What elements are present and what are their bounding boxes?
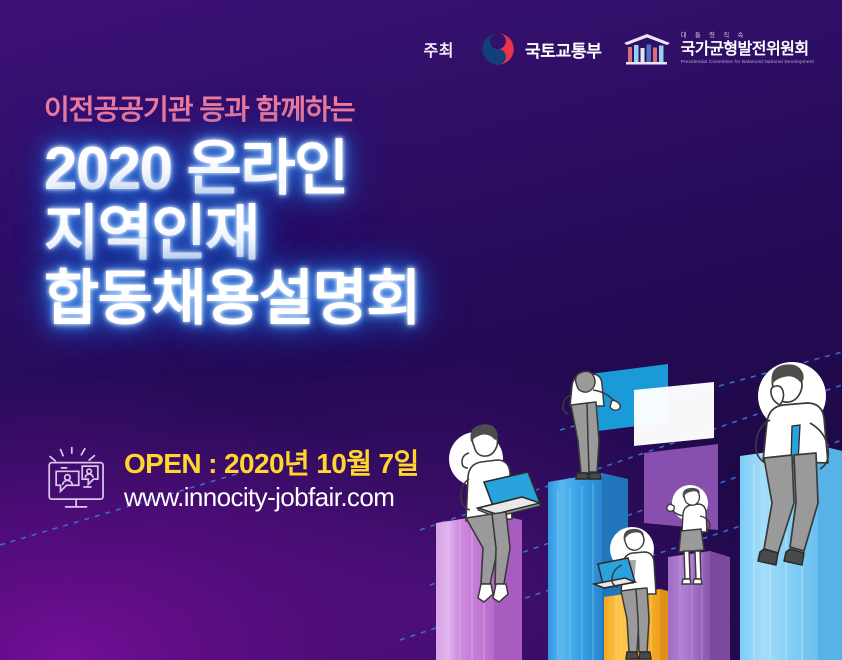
- government-building-icon: [621, 32, 673, 66]
- organization-subtitle-pcbnd: Presidential Committee for Balanced Nati…: [681, 60, 814, 65]
- poster-canvas: 주최 국토교통부 대 통 령 직 속 국가균형발전위원회: [0, 0, 842, 660]
- organization-superscript-pcbnd: 대 통 령 직 속: [681, 33, 814, 40]
- website-url[interactable]: www.innocity-jobfair.com: [124, 483, 419, 511]
- monitor-chat-icon: [44, 447, 110, 513]
- organization-name-motie: 국토교통부: [525, 37, 602, 62]
- open-info-block: OPEN : 2020년 10월 7일 www.innocity-jobfair…: [44, 447, 419, 513]
- headline-line-3: 합동채용설명회: [44, 270, 420, 329]
- organization-logo-pcbnd: 대 통 령 직 속 국가균형발전위원회 Presidential Committ…: [621, 32, 814, 66]
- headline-block: 이전공공기관 등과 함께하는 2020 온라인 지역인재 합동채용설명회: [44, 96, 420, 328]
- taeguk-icon: [480, 31, 516, 67]
- illustration-people-on-columns: [422, 360, 842, 660]
- presentation-screens: [590, 364, 714, 446]
- headline-line-1: 2020 온라인: [44, 140, 420, 199]
- host-label: 주최: [423, 37, 453, 61]
- organization-name-pcbnd: 국가균형발전위원회: [681, 42, 814, 58]
- headline-line-2: 지역인재: [44, 205, 420, 264]
- organization-logo-motie: 국토교통부: [480, 31, 602, 67]
- headline-kicker: 이전공공기관 등과 함께하는: [44, 96, 420, 124]
- open-date-label: OPEN : 2020년 10월 7일: [124, 449, 419, 479]
- header-logos: 주최 국토교통부 대 통 령 직 속 국가균형발전위원회: [0, 31, 842, 67]
